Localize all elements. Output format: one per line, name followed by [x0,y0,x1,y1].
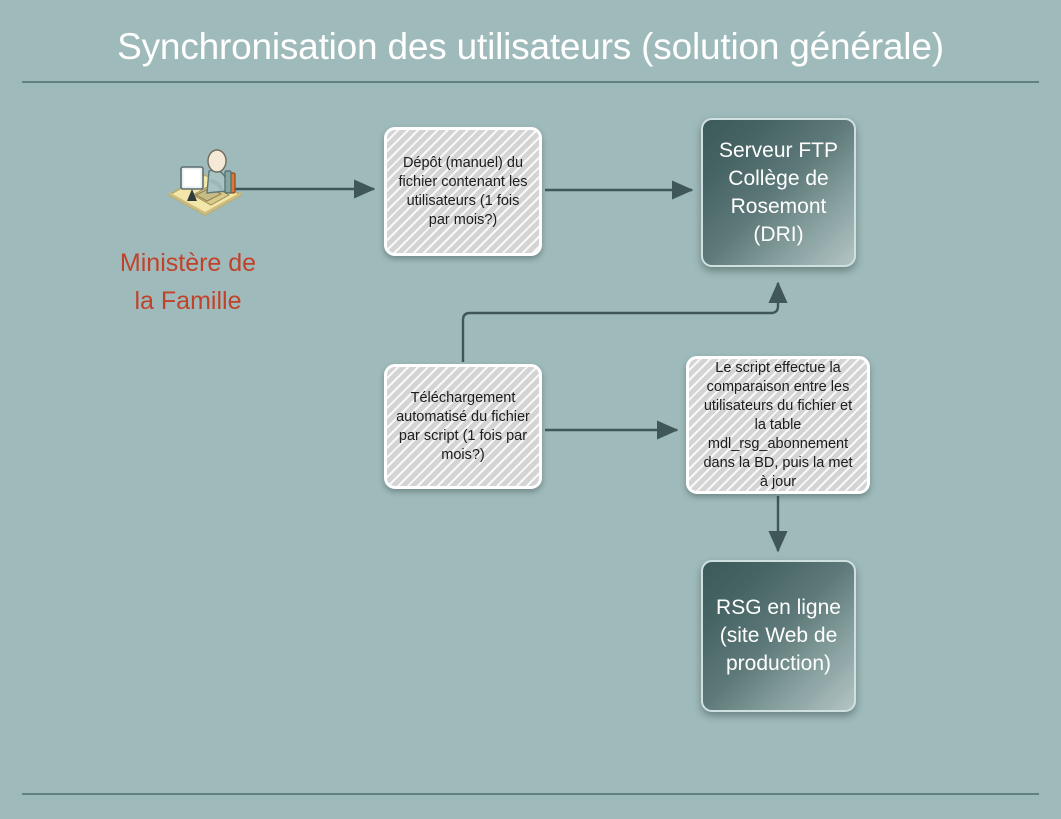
person-at-computer-icon [163,143,247,223]
actor-label-line1: Ministère de [120,249,256,277]
node-rsg-label: RSG en ligne (site Web de production) [713,594,844,678]
node-rsg-en-ligne[interactable]: RSG en ligne (site Web de production) [701,560,856,712]
node-depot-manuel[interactable]: Dépôt (manuel) du fichier contenant les … [384,127,542,256]
node-telechargement-script[interactable]: Téléchargement automatisé du fichier par… [384,364,542,489]
node-script-label: Le script effectue la comparaison entre … [698,359,858,492]
footer-divider [22,793,1039,795]
node-depot-label: Dépôt (manuel) du fichier contenant les … [396,154,530,230]
page-title: Synchronisation des utilisateurs (soluti… [0,26,1061,68]
node-ftp-label: Serveur FTP Collège de Rosemont (DRI) [713,137,844,249]
node-serveur-ftp[interactable]: Serveur FTP Collège de Rosemont (DRI) [701,118,856,267]
actor-label: Ministère de la Famille [103,244,273,320]
node-telechargement-label: Téléchargement automatisé du fichier par… [396,389,530,465]
title-divider-top [22,81,1039,83]
node-script-comparaison[interactable]: Le script effectue la comparaison entre … [686,356,870,494]
actor-label-line2: la Famille [135,287,242,315]
connector-telechargement-to-ftp [463,283,778,362]
slide-canvas: Synchronisation des utilisateurs (soluti… [0,0,1061,819]
actor-ministere-famille[interactable]: Ministère de la Famille [103,143,273,318]
